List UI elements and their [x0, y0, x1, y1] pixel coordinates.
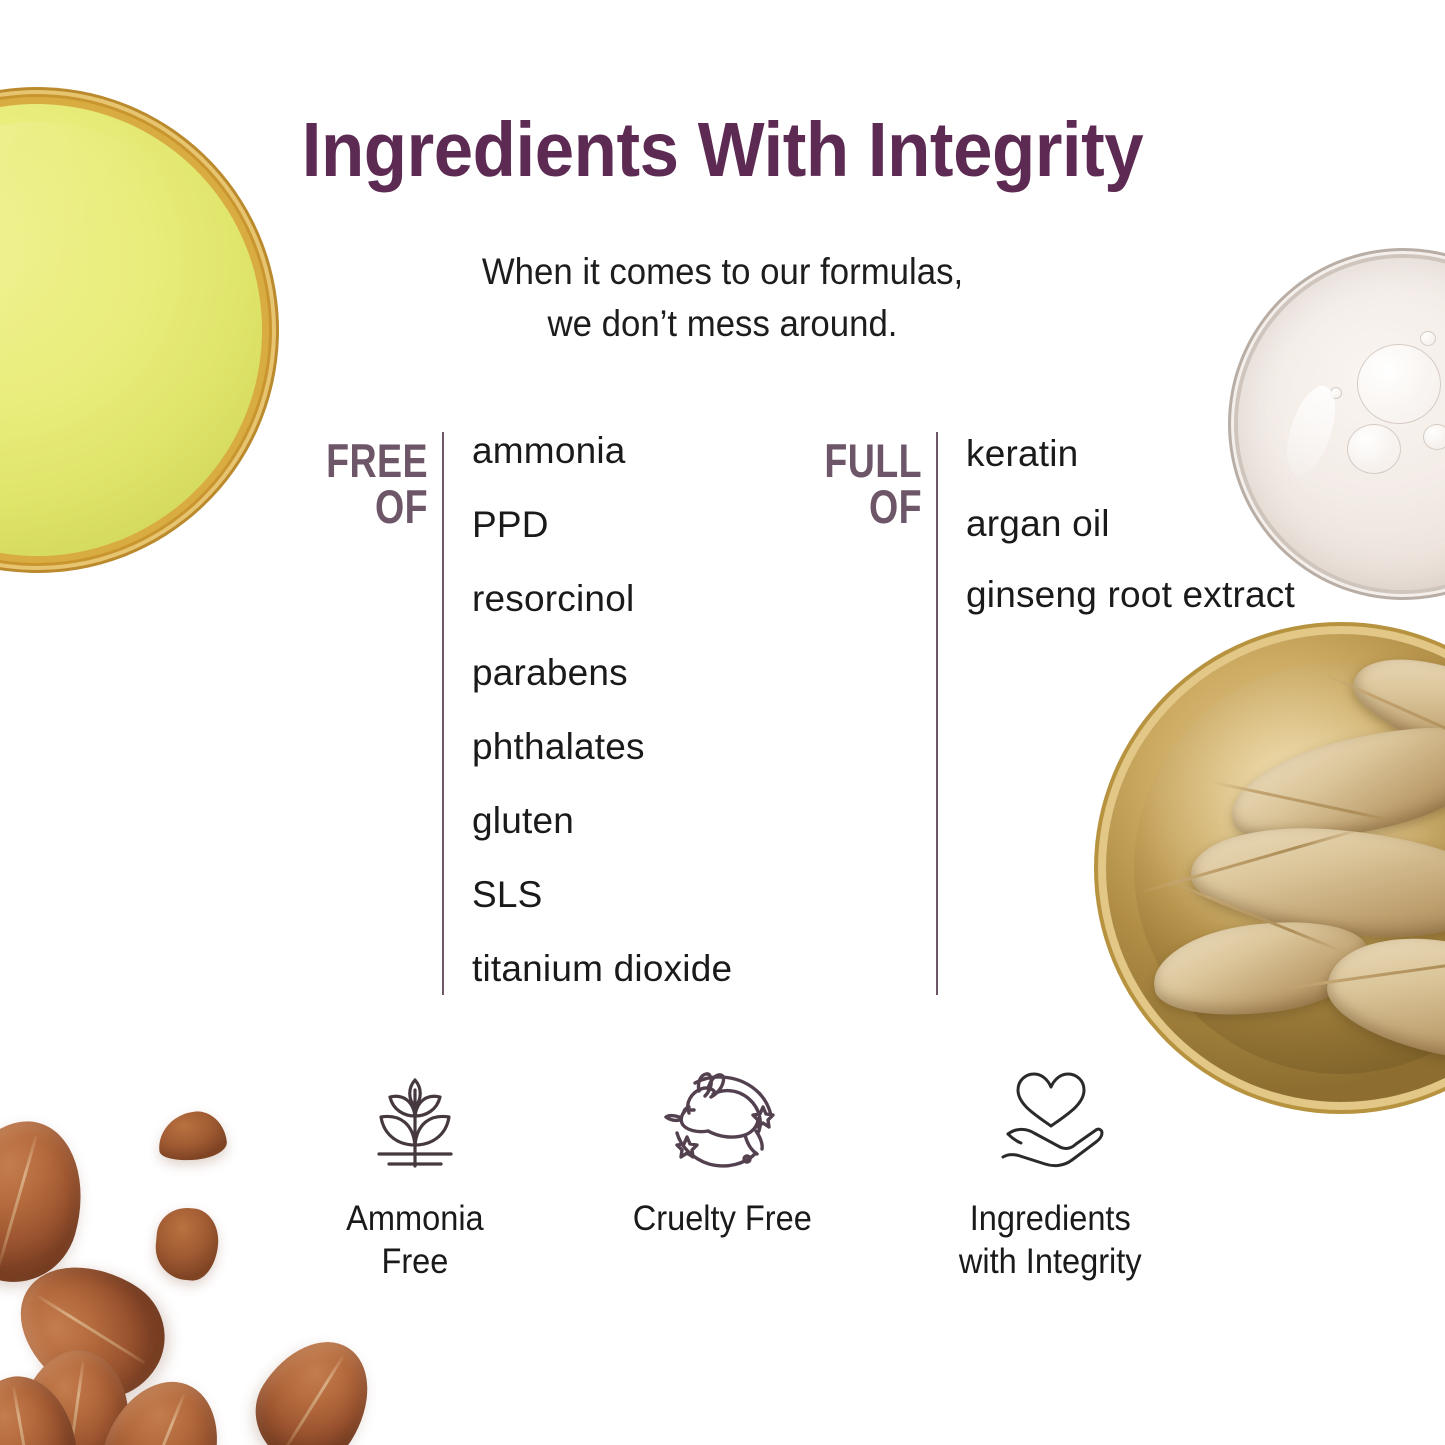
- list-item: PPD: [472, 506, 732, 543]
- list-item: argan oil: [966, 502, 1295, 546]
- list-item: SLS: [472, 876, 732, 913]
- badge-ingredients-with-integrity: Ingredients with Integrity: [893, 1062, 1208, 1283]
- free-of-section: FREE OF ammonia PPD resorcinol parabens …: [276, 432, 732, 1024]
- full-of-list: keratin argan oil ginseng root extract: [938, 432, 1295, 643]
- list-item: parabens: [472, 654, 732, 691]
- list-item: ginseng root extract: [966, 573, 1295, 617]
- page-subtitle: When it comes to our formulas, we don’t …: [43, 246, 1401, 350]
- badge-ammonia-free: Ammonia Free: [258, 1062, 573, 1283]
- subtitle-line-2: we don’t mess around.: [43, 298, 1401, 350]
- full-of-label: FULL OF: [802, 432, 922, 530]
- hand-holding-heart-icon: [986, 1062, 1116, 1182]
- leaping-bunny-icon: [661, 1062, 783, 1182]
- badge-cruelty-free: Cruelty Free: [565, 1062, 880, 1283]
- list-item: ammonia: [472, 432, 732, 469]
- cracked-shell-shard: [156, 1109, 229, 1164]
- free-of-label-line-1: FREE: [306, 438, 428, 484]
- list-item: titanium dioxide: [472, 950, 732, 987]
- list-item: gluten: [472, 802, 732, 839]
- list-item: resorcinol: [472, 580, 732, 617]
- badge-label: Cruelty Free: [632, 1198, 811, 1241]
- badge-label: Ingredients with Integrity: [959, 1198, 1142, 1283]
- badge-label: Ammonia Free: [347, 1198, 484, 1283]
- free-of-label: FREE OF: [306, 432, 428, 530]
- cracked-shell-shard: [153, 1205, 221, 1282]
- list-item: phthalates: [472, 728, 732, 765]
- certification-badges: Ammonia Free: [248, 1062, 1208, 1283]
- full-of-label-line-1: FULL: [802, 438, 922, 484]
- plant-sprout-icon: [359, 1062, 471, 1182]
- subtitle-line-1: When it comes to our formulas,: [43, 246, 1401, 298]
- free-of-label-line-2: OF: [306, 484, 428, 530]
- product-ingredients-infographic: Ingredients With Integrity When it comes…: [0, 0, 1445, 1445]
- full-of-label-line-2: OF: [802, 484, 922, 530]
- page-title: Ingredients With Integrity: [58, 110, 1387, 191]
- list-item: keratin: [966, 432, 1295, 476]
- full-of-section: FULL OF keratin argan oil ginseng root e…: [772, 432, 1295, 995]
- free-of-list: ammonia PPD resorcinol parabens phthalat…: [444, 432, 732, 1024]
